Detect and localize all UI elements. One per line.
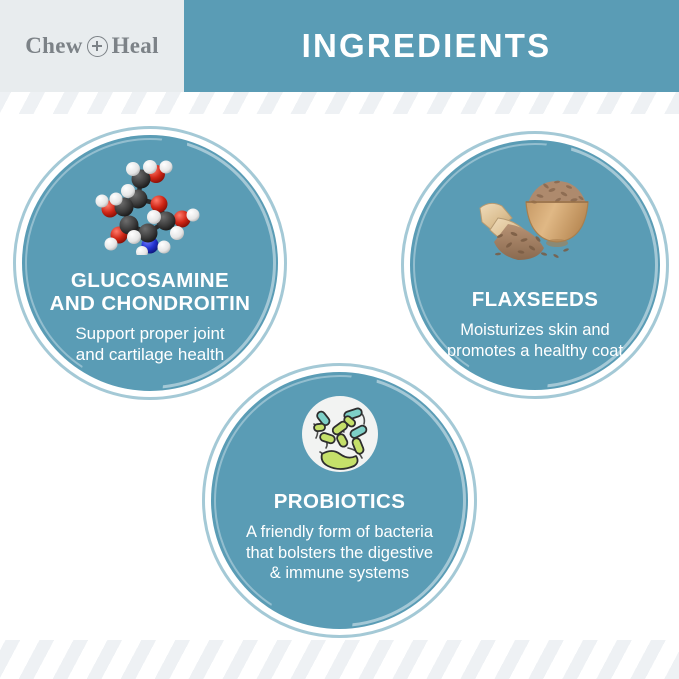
decorative-stripe-band-top xyxy=(0,92,679,114)
page-title: INGREDIENTS xyxy=(302,27,562,65)
ingredient-title-probiotics: PROBIOTICS xyxy=(274,491,406,514)
probiotic-bacteria-icon xyxy=(300,394,380,479)
desc-line-3: & immune systems xyxy=(246,563,433,584)
desc-line-2: that bolsters the digestive xyxy=(246,543,433,564)
ingredient-description-glucosamine: Support proper joint and cartilage healt… xyxy=(75,323,224,366)
desc-line-1: Moisturizes skin and xyxy=(447,320,623,341)
brand-logo: Chew Heal xyxy=(25,33,159,59)
desc-line-2: promotes a healthy coat xyxy=(447,341,623,362)
desc-line-1: Support proper joint xyxy=(75,323,224,344)
glucosamine-molecule-icon xyxy=(94,159,206,260)
header-title-panel: INGREDIENTS xyxy=(184,0,679,92)
desc-line-2: and cartilage health xyxy=(75,344,224,365)
brand-logo-panel: Chew Heal xyxy=(0,0,184,92)
ingredient-description-probiotics: A friendly form of bacteria that bolster… xyxy=(246,522,433,584)
ingredient-description-flaxseeds: Moisturizes skin and promotes a healthy … xyxy=(447,320,623,361)
ingredient-card-flaxseeds: FLAXSEEDS Moisturizes skin and promotes … xyxy=(410,140,660,390)
desc-line-1: A friendly form of bacteria xyxy=(246,522,433,543)
ingredients-infographic: Chew Heal INGREDIENTS xyxy=(0,0,679,679)
header-bar: Chew Heal INGREDIENTS xyxy=(0,0,679,92)
circled-plus-icon xyxy=(87,36,108,57)
brand-name-left: Chew xyxy=(25,33,82,59)
title-line-1: GLUCOSAMINE xyxy=(50,270,251,293)
brand-name-right: Heal xyxy=(112,33,159,59)
ingredient-card-probiotics: PROBIOTICS A friendly form of bacteria t… xyxy=(211,372,468,629)
ingredient-card-glucosamine: GLUCOSAMINE AND CHONDROITIN Support prop… xyxy=(22,135,278,391)
flaxseed-bowl-icon xyxy=(474,162,596,271)
ingredient-title-flaxseeds: FLAXSEEDS xyxy=(472,289,599,312)
ingredient-title-glucosamine: GLUCOSAMINE AND CHONDROITIN xyxy=(50,270,251,316)
decorative-stripe-band-bottom xyxy=(0,640,679,679)
title-line-2: AND CHONDROITIN xyxy=(50,293,251,316)
